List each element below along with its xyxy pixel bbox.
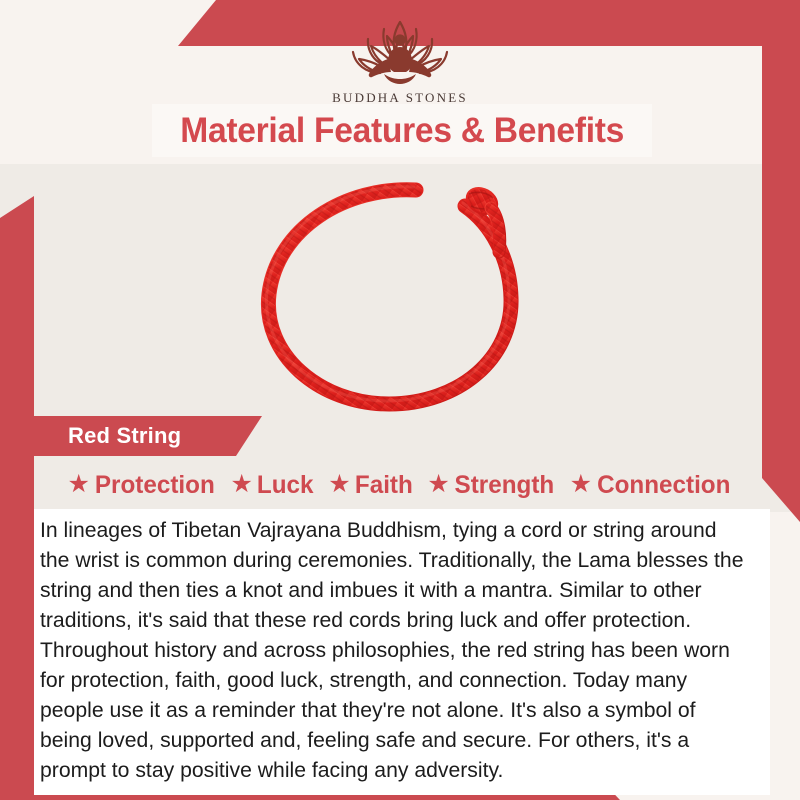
section-banner-label: Red String	[68, 423, 181, 449]
feature-item-connection: ★ Connection	[565, 471, 738, 500]
brand-logo: BUDDHA STONES	[0, 14, 800, 106]
feature-item-faith: ★ Faith	[323, 471, 418, 500]
feature-item-strength: ★ Strength	[422, 471, 560, 500]
star-icon: ★	[570, 472, 592, 497]
feature-label: Luck	[257, 471, 314, 500]
star-icon: ★	[328, 472, 350, 497]
product-infographic-poster: BUDDHA STONES Material Features & Benefi…	[0, 0, 800, 800]
feature-label: Connection	[597, 471, 730, 500]
page-title: Material Features & Benefits	[180, 111, 624, 151]
feature-item-luck: ★ Luck	[226, 471, 320, 500]
feature-item-protection: ★ Protection	[62, 471, 221, 500]
description-text: In lineages of Tibetan Vajrayana Buddhis…	[40, 515, 751, 785]
lotus-meditation-icon	[325, 14, 475, 88]
description-panel: In lineages of Tibetan Vajrayana Buddhis…	[34, 509, 770, 795]
feature-label: Faith	[355, 471, 413, 500]
feature-list: ★ Protection ★ Luck ★ Faith ★ Strength ★…	[34, 466, 766, 504]
page-title-box: Material Features & Benefits	[152, 104, 652, 157]
red-string-bracelet-image	[233, 166, 563, 424]
star-icon: ★	[231, 472, 253, 497]
star-icon: ★	[67, 472, 89, 497]
feature-label: Strength	[454, 471, 554, 500]
product-image-area	[34, 164, 762, 426]
feature-label: Protection	[95, 471, 215, 500]
decorative-bar-left	[0, 196, 34, 800]
star-icon: ★	[427, 472, 449, 497]
section-banner-red-string: Red String	[0, 416, 262, 456]
